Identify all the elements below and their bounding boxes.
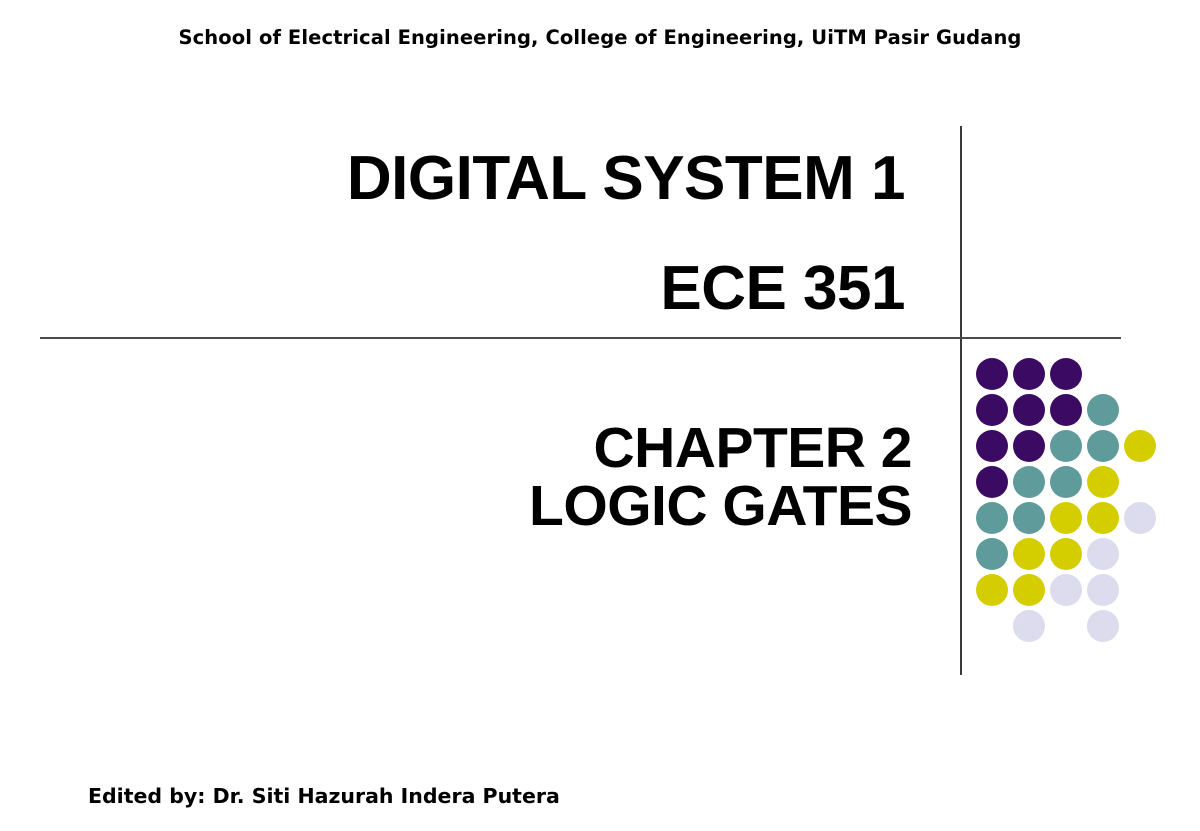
editor-credit: Edited by: Dr. Siti Hazurah Indera Puter… [88, 784, 560, 808]
decorative-dot-yellow [1087, 502, 1119, 534]
decorative-dot-purple [1013, 430, 1045, 462]
institution-header: School of Electrical Engineering, Colleg… [0, 26, 1200, 49]
horizontal-divider-rule [40, 337, 1121, 339]
decorative-dot-purple [1050, 394, 1082, 426]
decorative-dot-yellow [1087, 466, 1119, 498]
chapter-number: CHAPTER 2 [0, 419, 912, 477]
vertical-divider-rule [960, 126, 962, 675]
decorative-dot-purple [1013, 358, 1045, 390]
decorative-dot-lavender [1087, 538, 1119, 570]
decorative-dot-purple [976, 358, 1008, 390]
course-name: DIGITAL SYSTEM 1 [0, 148, 905, 210]
decorative-dot-lavender [1087, 610, 1119, 642]
decorative-dot-yellow [1124, 430, 1156, 462]
presentation-slide: School of Electrical Engineering, Colleg… [0, 0, 1200, 831]
course-code: ECE 351 [0, 258, 905, 320]
decorative-dot-yellow [976, 574, 1008, 606]
decorative-dot-lavender [1087, 574, 1119, 606]
decorative-dot-teal [1013, 502, 1045, 534]
decorative-dot-lavender [1050, 574, 1082, 606]
decorative-dot-teal [1087, 394, 1119, 426]
decorative-dot-lavender [1013, 610, 1045, 642]
decorative-dot-purple [976, 430, 1008, 462]
decorative-dot-teal [976, 538, 1008, 570]
decorative-dot-teal [1050, 466, 1082, 498]
chapter-topic: LOGIC GATES [0, 477, 912, 535]
chapter-title-block: CHAPTER 2 LOGIC GATES [0, 419, 912, 535]
course-title-block: DIGITAL SYSTEM 1 ECE 351 [0, 148, 905, 320]
dot-grid-decoration [976, 358, 1176, 634]
decorative-dot-purple [1013, 394, 1045, 426]
decorative-dot-purple [1050, 358, 1082, 390]
decorative-dot-yellow [1013, 574, 1045, 606]
decorative-dot-teal [1087, 430, 1119, 462]
decorative-dot-purple [976, 466, 1008, 498]
decorative-dot-teal [976, 502, 1008, 534]
decorative-dot-yellow [1013, 538, 1045, 570]
decorative-dot-yellow [1050, 502, 1082, 534]
decorative-dot-teal [1013, 466, 1045, 498]
decorative-dot-teal [1050, 430, 1082, 462]
decorative-dot-yellow [1050, 538, 1082, 570]
decorative-dot-purple [976, 394, 1008, 426]
decorative-dot-lavender [1124, 502, 1156, 534]
